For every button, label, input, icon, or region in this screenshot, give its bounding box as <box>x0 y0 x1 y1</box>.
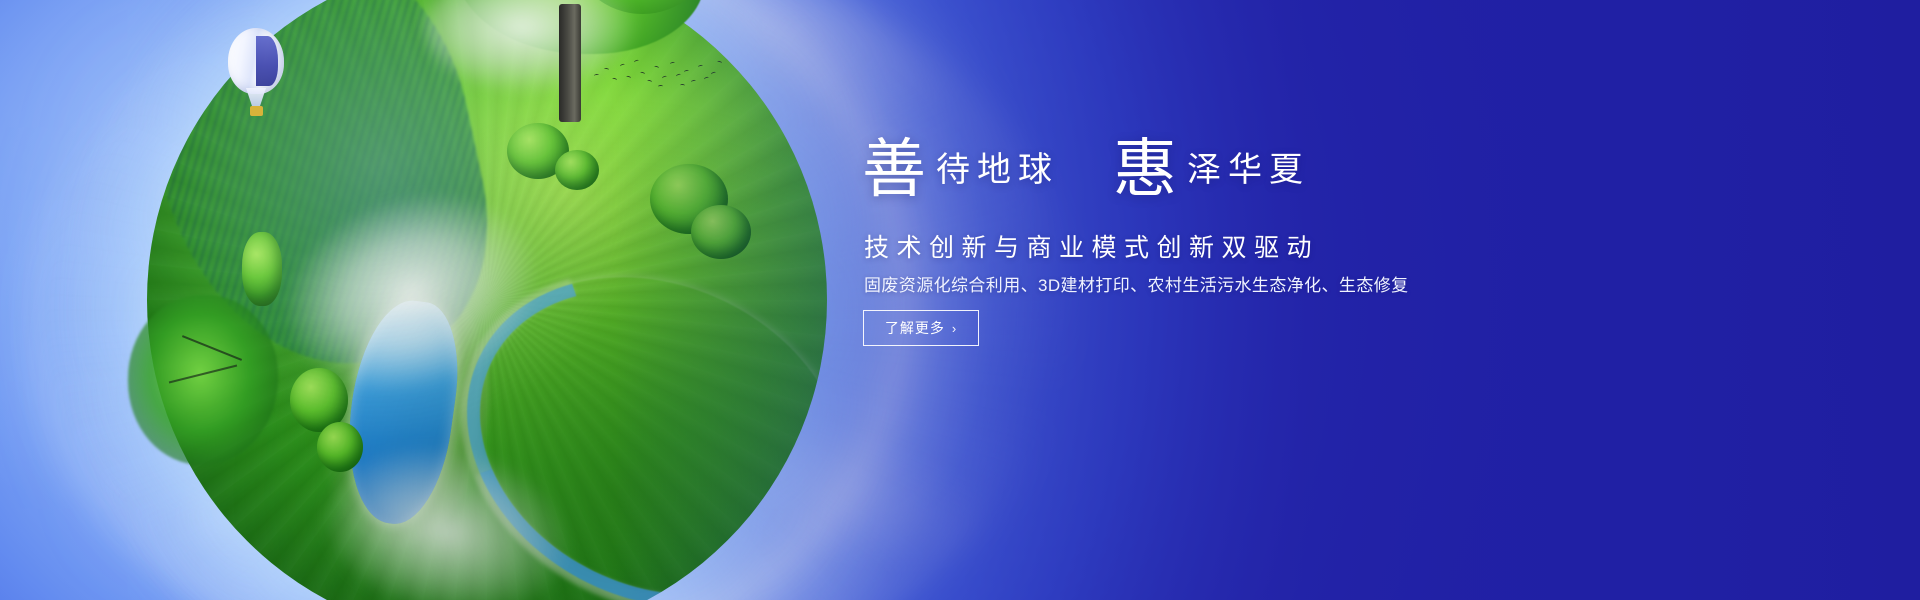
page-title: 善 待地球 惠 泽华夏 <box>862 138 1310 202</box>
hero-content: 善 待地球 惠 泽华夏 技术创新与商业模式创新双驱动 固废资源化综合利用、3D建… <box>862 0 1622 600</box>
hero-banner: 善 待地球 惠 泽华夏 技术创新与商业模式创新双驱动 固废资源化综合利用、3D建… <box>0 0 1920 600</box>
hero-subtitle: 技术创新与商业模式创新双驱动 <box>864 228 1319 264</box>
headline-char-primary-1: 善 <box>862 138 926 202</box>
learn-more-label: 了解更多 <box>885 318 945 338</box>
headline-text-2: 泽华夏 <box>1187 154 1310 188</box>
headline-text-1: 待地球 <box>936 154 1059 188</box>
headline-char-primary-2: 惠 <box>1113 138 1177 202</box>
chevron-right-icon: › <box>952 321 957 336</box>
learn-more-button[interactable]: 了解更多 › <box>863 310 979 346</box>
hero-description: 固废资源化综合利用、3D建材打印、农村生活污水生态净化、生态修复 <box>864 271 1409 296</box>
